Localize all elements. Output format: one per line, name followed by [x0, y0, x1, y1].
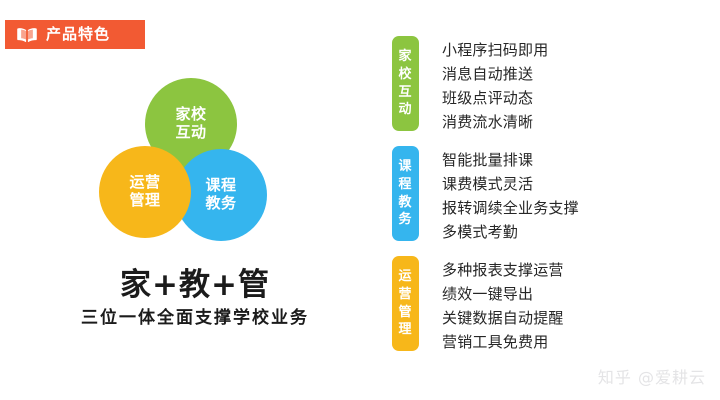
header-banner: 产品特色 — [5, 20, 145, 49]
slide-canvas: 产品特色 家校 互动 课程 教务 运营 管理 家+教+管 三位一体全面支撑学校业… — [0, 0, 720, 400]
feature-group-operations: 运营管理 多种报表支撑运营 绩效一键导出 关键数据自动提醒 营销工具免费用 — [392, 256, 712, 351]
venn-diagram: 家校 互动 课程 教务 运营 管理 — [95, 78, 290, 248]
feature-tag-label-operations: 运营管理 — [399, 268, 413, 338]
feature-tag-label-home-school: 家校互动 — [399, 48, 413, 118]
feature-item: 多模式考勤 — [442, 220, 579, 244]
feature-tag-course-affairs[interactable]: 课程教务 — [392, 146, 419, 241]
feature-item: 班级点评动态 — [442, 86, 548, 110]
feature-item: 绩效一键导出 — [442, 282, 564, 306]
feature-item: 智能批量排课 — [442, 148, 579, 172]
feature-group-course-affairs: 课程教务 智能批量排课 课费模式灵活 报转调续全业务支撑 多模式考勤 — [392, 146, 712, 241]
venn-circle-label-home-school: 家校 互动 — [175, 106, 206, 141]
feature-item-list-operations: 多种报表支撑运营 绩效一键导出 关键数据自动提醒 营销工具免费用 — [442, 256, 564, 354]
feature-item: 消费流水清晰 — [442, 110, 548, 134]
feature-panel: 家校互动 小程序扫码即用 消息自动推送 班级点评动态 消费流水清晰 课程教务 智… — [392, 36, 712, 366]
feature-item: 报转调续全业务支撑 — [442, 196, 579, 220]
feature-item-list-home-school: 小程序扫码即用 消息自动推送 班级点评动态 消费流水清晰 — [442, 36, 548, 134]
open-book-icon — [16, 27, 38, 43]
header-title: 产品特色 — [46, 27, 110, 42]
feature-item: 课费模式灵活 — [442, 172, 579, 196]
venn-subtitle: 三位一体全面支撑学校业务 — [0, 308, 390, 328]
feature-item-list-course-affairs: 智能批量排课 课费模式灵活 报转调续全业务支撑 多模式考勤 — [442, 146, 579, 244]
feature-tag-label-course-affairs: 课程教务 — [399, 158, 413, 228]
venn-circle-label-course-affairs: 课程 教务 — [205, 177, 236, 212]
feature-item: 小程序扫码即用 — [442, 38, 548, 62]
feature-tag-operations[interactable]: 运营管理 — [392, 256, 419, 351]
feature-group-home-school: 家校互动 小程序扫码即用 消息自动推送 班级点评动态 消费流水清晰 — [392, 36, 712, 131]
venn-circle-label-operations: 运营 管理 — [129, 174, 160, 209]
feature-tag-home-school[interactable]: 家校互动 — [392, 36, 419, 131]
watermark: 知乎 @爱耕云 — [598, 364, 706, 388]
venn-title: 家+教+管 — [0, 268, 390, 302]
feature-item: 消息自动推送 — [442, 62, 548, 86]
feature-item: 营销工具免费用 — [442, 330, 564, 354]
feature-item: 多种报表支撑运营 — [442, 258, 564, 282]
venn-circle-operations[interactable]: 运营 管理 — [99, 146, 191, 238]
feature-item: 关键数据自动提醒 — [442, 306, 564, 330]
